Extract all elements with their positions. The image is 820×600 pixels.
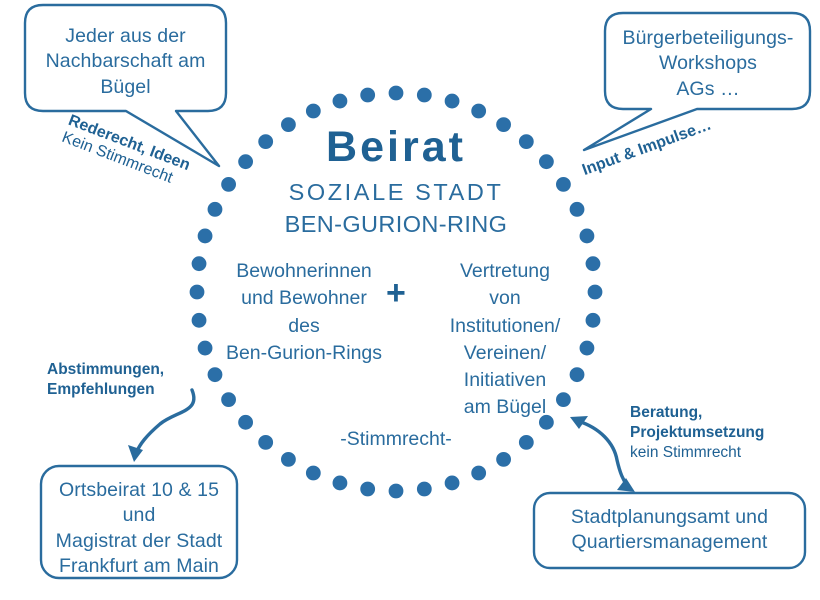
ring-dot xyxy=(570,202,585,217)
ring-dot xyxy=(281,452,296,467)
callout-line: Nachbarschaft am xyxy=(33,49,218,74)
ring-dot xyxy=(306,104,321,119)
group-residents: Bewohnerinnen und Bewohner des Ben-Gurio… xyxy=(214,258,394,367)
ring-dot xyxy=(306,466,321,481)
callout-line: und xyxy=(43,503,235,528)
diagram-canvas: Beirat SOZIALE STADT BEN-GURION-RING Bew… xyxy=(0,0,820,600)
center-title-block: Beirat SOZIALE STADT BEN-GURION-RING xyxy=(246,126,546,241)
callout-line: Frankfurt am Main xyxy=(43,554,235,579)
ring-dot xyxy=(333,476,348,491)
arrow-ring-to-ortsbeirat xyxy=(128,390,194,462)
ring-dot xyxy=(580,229,595,244)
annotation-bold: Projektumsetzung xyxy=(630,423,810,443)
ring-dot xyxy=(192,256,207,271)
group-institutions-line: Vereinen/ xyxy=(425,340,585,367)
plus-symbol: + xyxy=(386,276,406,310)
group-residents-line: und Bewohner xyxy=(214,285,394,312)
callout-line: AGs … xyxy=(610,77,806,102)
ring-dot xyxy=(417,482,432,497)
callout-line: Workshops xyxy=(610,51,806,76)
ring-dot xyxy=(258,435,273,450)
center-subtitle-2: BEN-GURION-RING xyxy=(246,209,546,241)
ring-dot xyxy=(586,313,601,328)
ring-dot xyxy=(238,415,253,430)
annotation-normal: kein Stimmrecht xyxy=(630,443,810,463)
callout-top-left-text: Jeder aus der Nachbarschaft am Bügel xyxy=(33,24,218,100)
ring-dot xyxy=(445,94,460,109)
voting-rights-label: -Stimmrecht- xyxy=(316,428,476,451)
callout-line: Stadtplanungsamt und xyxy=(537,505,802,530)
callout-line: Bügel xyxy=(33,75,218,100)
ring-dot xyxy=(389,86,404,101)
ring-dot xyxy=(445,476,460,491)
group-residents-line: des xyxy=(214,313,394,340)
page-title: Beirat xyxy=(246,126,546,169)
ring-dot xyxy=(360,88,375,103)
group-institutions-line: Institutionen/ xyxy=(425,313,585,340)
callout-top-right-text: Bürgerbeteiligungs- Workshops AGs … xyxy=(610,26,806,102)
callout-line: Quartiersmanagement xyxy=(537,530,802,555)
ring-dot xyxy=(471,104,486,119)
arrow-ring-to-stadtplanungsamt xyxy=(570,416,635,492)
ring-dot xyxy=(360,482,375,497)
group-residents-line: Bewohnerinnen xyxy=(214,258,394,285)
ring-dot xyxy=(198,341,213,356)
group-residents-line: Ben-Gurion-Rings xyxy=(214,340,394,367)
callout-line: Bürgerbeteiligungs- xyxy=(610,26,806,51)
center-subtitle: SOZIALE STADT xyxy=(246,175,546,209)
ring-dot xyxy=(198,229,213,244)
ring-dot xyxy=(190,285,205,300)
callout-bottom-left-text: Ortsbeirat 10 & 15 und Magistrat der Sta… xyxy=(43,478,235,579)
group-institutions-line: von xyxy=(425,285,585,312)
ring-dot xyxy=(588,285,603,300)
ring-dot xyxy=(586,256,601,271)
ring-dot xyxy=(519,435,534,450)
ring-dot xyxy=(208,202,223,217)
group-institutions-line: Initiativen xyxy=(425,367,585,394)
callout-line: Ortsbeirat 10 & 15 xyxy=(43,478,235,503)
callout-line: Jeder aus der xyxy=(33,24,218,49)
ring-dot xyxy=(221,177,236,192)
annotation-bottom-right: Beratung, Projektumsetzung kein Stimmrec… xyxy=(630,403,810,462)
annotation-bold: Abstimmungen, xyxy=(47,360,227,380)
ring-dot xyxy=(417,88,432,103)
group-institutions-line: am Bügel xyxy=(425,394,585,421)
ring-dot xyxy=(192,313,207,328)
ring-dot xyxy=(471,466,486,481)
group-institutions: Vertretung von Institutionen/ Vereinen/ … xyxy=(425,258,585,422)
annotation-bold: Empfehlungen xyxy=(47,380,227,400)
callout-line: Magistrat der Stadt xyxy=(43,529,235,554)
callout-bottom-right-text: Stadtplanungsamt und Quartiersmanagement xyxy=(537,505,802,556)
ring-dot xyxy=(389,484,404,499)
group-institutions-line: Vertretung xyxy=(425,258,585,285)
ring-dot xyxy=(496,452,511,467)
annotation-bottom-left: Abstimmungen, Empfehlungen xyxy=(47,360,227,400)
ring-dot xyxy=(556,177,571,192)
annotation-bold: Beratung, xyxy=(630,403,810,423)
ring-dot xyxy=(333,94,348,109)
